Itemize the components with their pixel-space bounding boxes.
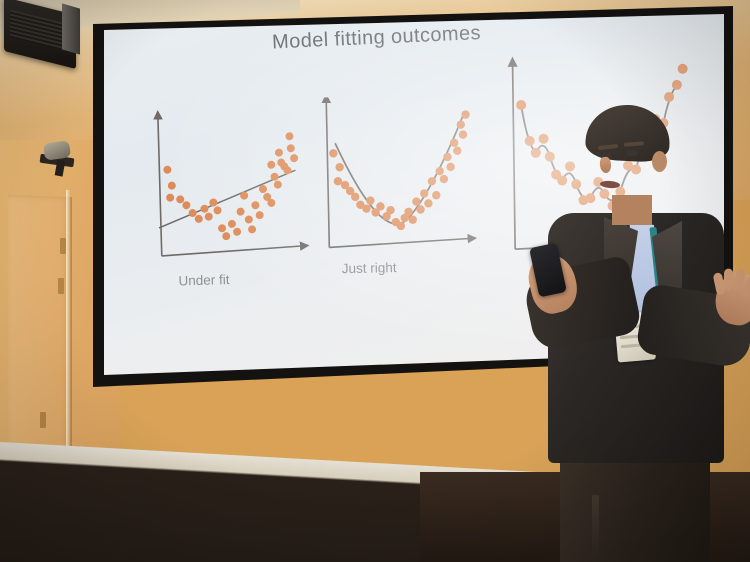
door-hinge (58, 278, 64, 294)
projector-mount (62, 3, 80, 54)
presenter-eye (626, 150, 638, 156)
door-hinge (40, 412, 46, 428)
just-right-svg (310, 94, 484, 273)
presenter-ear (652, 151, 667, 172)
presenter-legs (560, 447, 710, 562)
chart-label-under-fit: Under fit (178, 272, 229, 288)
just-right-points (328, 110, 472, 231)
chart-under-fit: Under fit (142, 104, 317, 279)
presentation-photo: Model fitting outcomes (0, 0, 750, 562)
presenter-leg-seam (592, 495, 599, 562)
chart-just-right: Just right (310, 94, 484, 273)
chart-label-just-right: Just right (342, 260, 397, 276)
under-fit-points (162, 132, 300, 242)
presenter (520, 95, 750, 562)
door-hinge (60, 238, 66, 254)
under-fit-svg (142, 104, 317, 279)
